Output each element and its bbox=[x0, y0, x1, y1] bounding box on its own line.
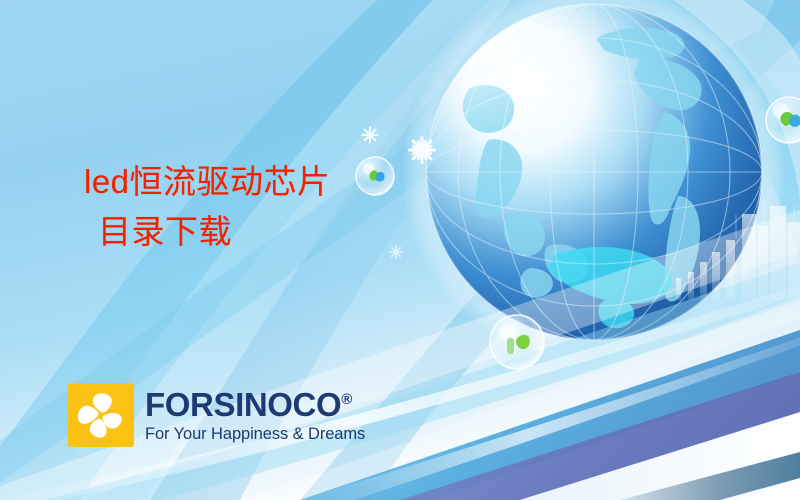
globe-gridlines bbox=[426, 4, 762, 340]
four-petal-pinwheel-icon bbox=[68, 383, 134, 447]
company-logo: FORSINOCO® For Your Happiness & Dreams bbox=[68, 383, 365, 447]
registered-trademark-icon: ® bbox=[341, 391, 352, 408]
promo-banner: led恒流驱动芯片 目录下载 FORSINOCO® For Your Happi… bbox=[0, 0, 800, 500]
globe-graphic bbox=[370, 0, 786, 368]
logo-wordmark: FORSINOCO® bbox=[145, 388, 365, 421]
foreground-ribbons bbox=[0, 210, 800, 500]
headline-line-2: 目录下载 bbox=[84, 210, 414, 254]
bubble-orb bbox=[356, 97, 800, 369]
headline: led恒流驱动芯片 目录下载 bbox=[84, 160, 414, 253]
logo-text-block: FORSINOCO® For Your Happiness & Dreams bbox=[145, 388, 365, 443]
globe-continents bbox=[463, 28, 702, 302]
headline-line-1: led恒流驱动芯片 bbox=[84, 160, 414, 204]
city-skyline bbox=[676, 200, 800, 300]
logo-wordmark-text: FORSINOCO bbox=[145, 386, 341, 423]
logo-tagline: For Your Happiness & Dreams bbox=[145, 426, 365, 443]
